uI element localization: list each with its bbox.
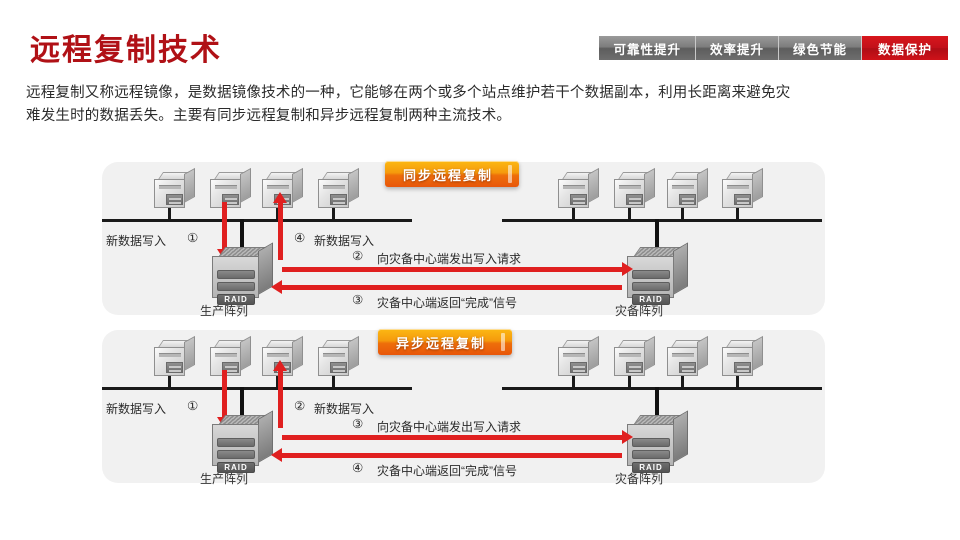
disaster-array-caption: 灾备阵列 <box>615 302 663 319</box>
server-icon <box>722 340 764 378</box>
server-icon <box>614 172 656 210</box>
raid-array-production: RAID <box>212 247 274 301</box>
production-array-caption: 生产阵列 <box>200 470 248 487</box>
raid-array-disaster: RAID <box>627 247 689 301</box>
network-bus-left <box>102 219 412 222</box>
request-text: 向灾备中心端发出写入请求 <box>377 418 521 435</box>
right-write-number: ② <box>294 398 305 413</box>
ack-number: ④ <box>352 460 363 475</box>
intro-line-1: 远程复制又称远程镜像，是数据镜像技术的一种，它能够在两个或多个站点维护若干个数据… <box>26 82 926 105</box>
server-icon <box>210 340 252 378</box>
server-icon <box>318 340 360 378</box>
server-icon <box>558 340 600 378</box>
left-write-number: ① <box>187 398 198 413</box>
disaster-array-caption: 灾备阵列 <box>615 470 663 487</box>
ack-number: ③ <box>352 292 363 307</box>
server-icon <box>614 340 656 378</box>
banner-sync: 同步远程复制 <box>385 161 519 187</box>
ack-arrow-up <box>278 202 283 260</box>
request-text: 向灾备中心端发出写入请求 <box>377 250 521 267</box>
replication-request-arrow <box>282 267 622 272</box>
request-number: ③ <box>352 416 363 431</box>
write-arrow-down <box>222 370 227 418</box>
replication-ack-arrow <box>282 285 622 290</box>
tab-reliability[interactable]: 可靠性提升 <box>599 36 696 60</box>
raid-array-production: RAID <box>212 415 274 469</box>
server-icon <box>667 340 709 378</box>
server-icon <box>318 172 360 210</box>
intro-line-2: 难发生时的数据丢失。主要有同步远程复制和异步远程复制两种主流技术。 <box>26 105 926 128</box>
banner-async: 异步远程复制 <box>378 329 512 355</box>
replication-ack-arrow <box>282 453 622 458</box>
server-icon <box>667 172 709 210</box>
top-tab-bar[interactable]: 可靠性提升 效率提升 绿色节能 数据保护 <box>599 36 948 60</box>
ack-text: 灾备中心端返回“完成”信号 <box>377 294 517 311</box>
server-icon <box>262 340 304 378</box>
array-uplink-left <box>240 387 244 417</box>
array-uplink-right <box>655 219 659 249</box>
raid-array-disaster: RAID <box>627 415 689 469</box>
tab-data-protection[interactable]: 数据保护 <box>862 36 948 60</box>
network-bus-left <box>102 387 412 390</box>
replication-request-arrow <box>282 435 622 440</box>
write-arrow-down <box>222 202 227 250</box>
ack-text: 灾备中心端返回“完成”信号 <box>377 462 517 479</box>
left-write-label: 新数据写入 <box>106 232 166 249</box>
array-uplink-left <box>240 219 244 249</box>
server-icon <box>262 172 304 210</box>
server-icon <box>154 340 196 378</box>
array-uplink-right <box>655 387 659 417</box>
ack-arrow-up <box>278 370 283 428</box>
left-write-label: 新数据写入 <box>106 400 166 417</box>
server-icon <box>558 172 600 210</box>
request-number: ② <box>352 248 363 263</box>
left-write-number: ① <box>187 230 198 245</box>
slide-root: 远程复制技术 远程复制又称远程镜像，是数据镜像技术的一种，它能够在两个或多个站点… <box>0 0 960 540</box>
page-title: 远程复制技术 <box>30 36 222 66</box>
server-icon <box>154 172 196 210</box>
tab-green-energy[interactable]: 绿色节能 <box>779 36 862 60</box>
right-write-number: ④ <box>294 230 305 245</box>
server-icon <box>210 172 252 210</box>
server-icon <box>722 172 764 210</box>
tab-efficiency[interactable]: 效率提升 <box>696 36 779 60</box>
production-array-caption: 生产阵列 <box>200 302 248 319</box>
network-bus-right <box>502 219 822 222</box>
intro-paragraph: 远程复制又称远程镜像，是数据镜像技术的一种，它能够在两个或多个站点维护若干个数据… <box>26 82 926 128</box>
right-write-label: 新数据写入 <box>314 400 374 417</box>
right-write-label: 新数据写入 <box>314 232 374 249</box>
network-bus-right <box>502 387 822 390</box>
